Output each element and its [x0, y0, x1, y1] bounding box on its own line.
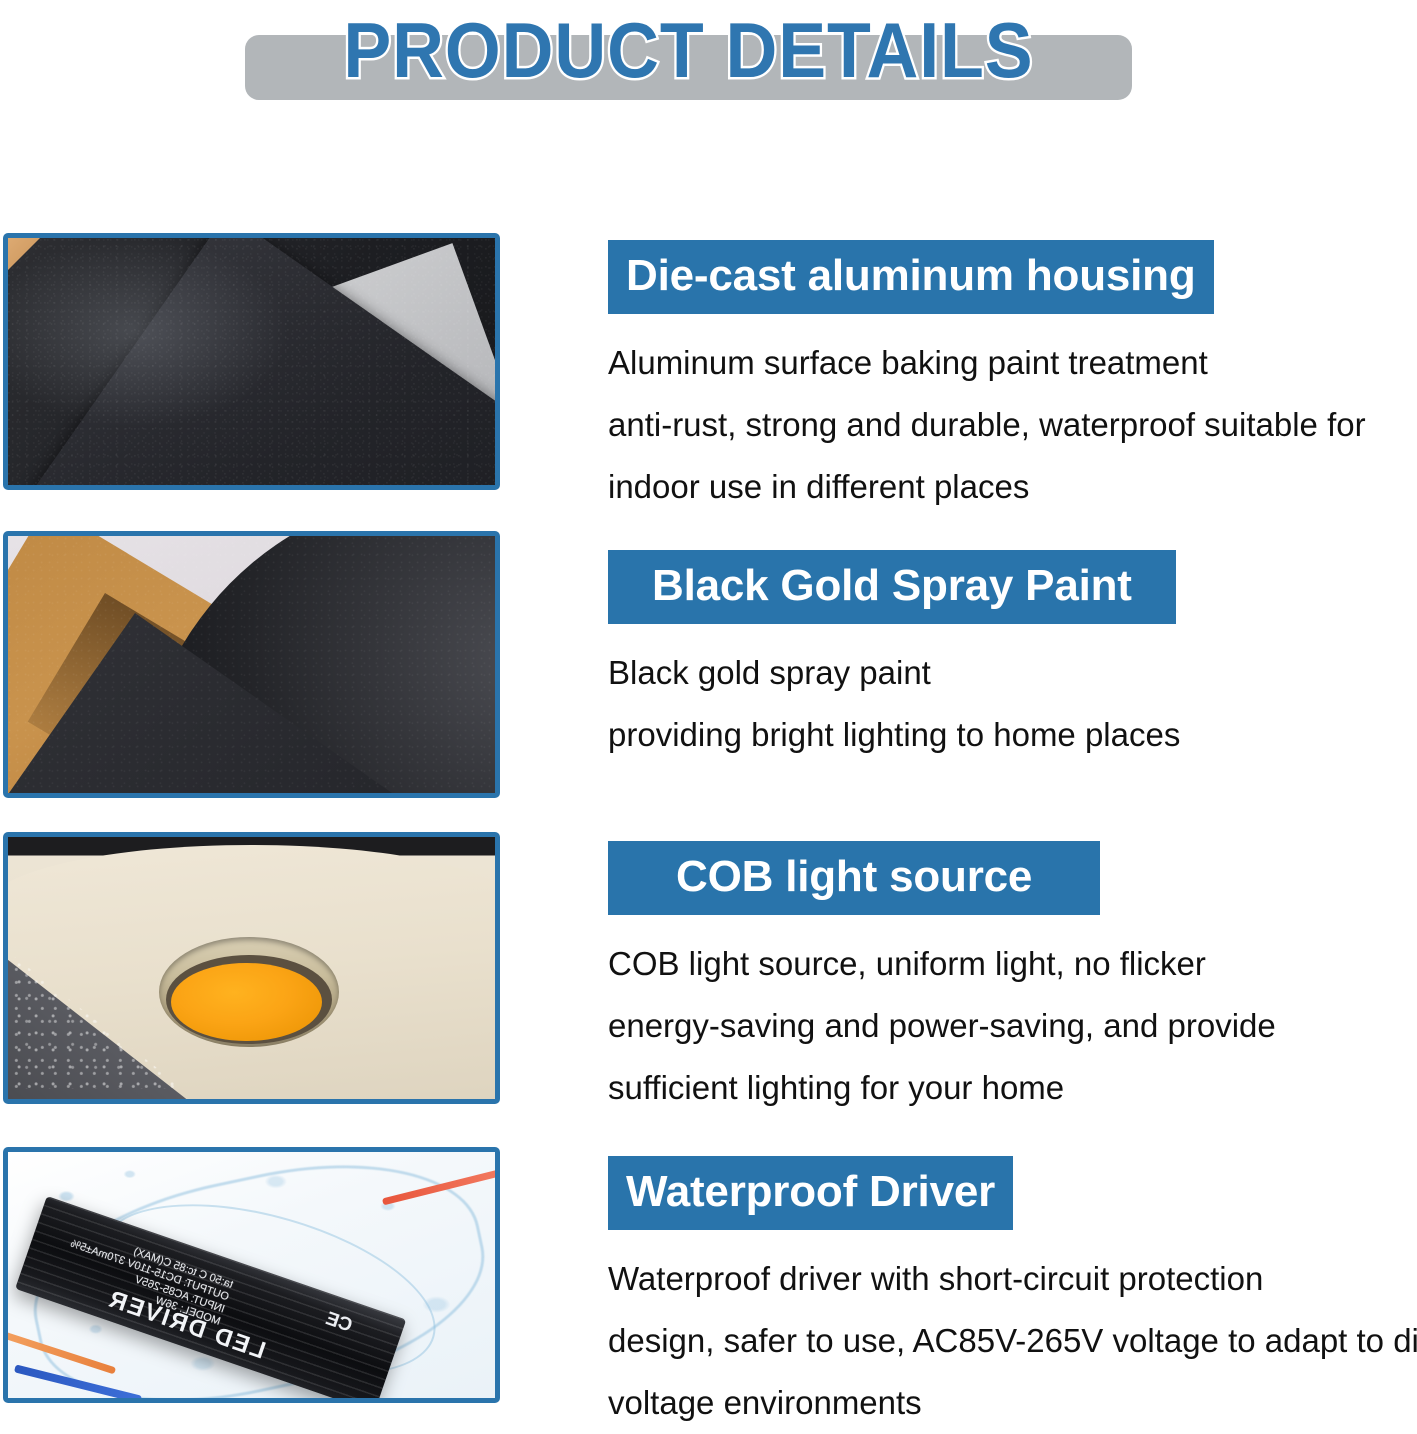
section-text-black-gold-spray-paint: Black Gold Spray Paint Black gold spray …	[608, 550, 1180, 766]
section-header-black-gold-spray-paint: Black Gold Spray Paint	[608, 550, 1176, 624]
section-text-cob-light-source: COB light source COB light source, unifo…	[608, 841, 1276, 1119]
photo-inner	[8, 238, 495, 485]
section-header-die-cast-aluminum-housing: Die-cast aluminum housing	[608, 240, 1214, 314]
paint-texture	[8, 238, 495, 485]
section-text-die-cast-aluminum-housing: Die-cast aluminum housing Aluminum surfa…	[608, 240, 1366, 518]
section-body-black-gold-spray-paint: Black gold spray paint providing bright …	[608, 642, 1180, 766]
section-body-die-cast-aluminum-housing: Aluminum surface baking paint treatment …	[608, 332, 1366, 518]
body-line: Aluminum surface baking paint treatment	[608, 332, 1366, 394]
section-body-waterproof-driver: Waterproof driver with short-circuit pro…	[608, 1248, 1417, 1434]
cob-led-chip	[171, 963, 322, 1042]
body-line: COB light source, uniform light, no flic…	[608, 933, 1276, 995]
product-photo-waterproof-driver: CE ta:50 C tc:85 C(MAX) OUTPUT: DC15-110…	[3, 1147, 500, 1403]
section-header-waterproof-driver: Waterproof Driver	[608, 1156, 1013, 1230]
product-photo-cob-light-source	[3, 832, 500, 1104]
body-line: providing bright lighting to home places	[608, 704, 1180, 766]
body-line: energy-saving and power-saving, and prov…	[608, 995, 1276, 1057]
body-line: design, safer to use, AC85V-265V voltage…	[608, 1310, 1417, 1372]
product-photo-black-gold-spray-paint	[3, 531, 500, 798]
section-header-cob-light-source: COB light source	[608, 841, 1100, 915]
section-body-cob-light-source: COB light source, uniform light, no flic…	[608, 933, 1276, 1119]
paint-texture	[8, 536, 495, 793]
body-line: Waterproof driver with short-circuit pro…	[608, 1248, 1417, 1310]
body-line: anti-rust, strong and durable, waterproo…	[608, 394, 1366, 456]
product-photo-die-cast-aluminum-housing	[3, 233, 500, 490]
page-title: PRODUCT DETAILS	[280, 0, 1096, 102]
photo-inner	[8, 536, 495, 793]
section-text-waterproof-driver: Waterproof Driver Waterproof driver with…	[608, 1156, 1417, 1434]
photo-inner	[8, 837, 495, 1099]
body-line: indoor use in different places	[608, 456, 1366, 518]
body-line: Black gold spray paint	[608, 642, 1180, 704]
body-line: voltage environments	[608, 1372, 1417, 1434]
photo-inner: CE ta:50 C tc:85 C(MAX) OUTPUT: DC15-110…	[8, 1152, 495, 1398]
body-line: sufficient lighting for your home	[608, 1057, 1276, 1119]
